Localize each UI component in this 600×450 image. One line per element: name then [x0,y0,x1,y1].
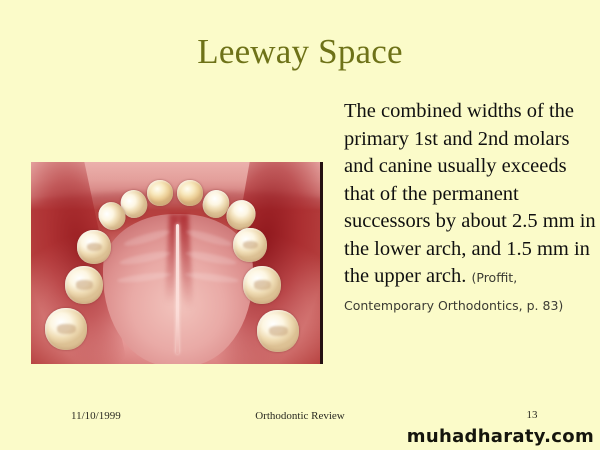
body-main-text: The combined widths of the primary 1st a… [344,100,596,287]
tooth-primary-central-incisor-right [177,180,203,206]
body-text-block: The combined widths of the primary 1st a… [344,98,596,318]
tooth-primary-second-molar-right [243,266,281,304]
body-paragraph: The combined widths of the primary 1st a… [344,98,596,318]
median-palatal-raphe [176,224,179,354]
presentation-slide: Leeway Space The combi [0,0,600,450]
tooth-permanent-first-molar-left [45,308,87,350]
tooth-permanent-first-molar-right [257,310,299,352]
maxillary-occlusal-photo [31,162,323,364]
tooth-primary-first-molar-left [77,230,111,264]
footer-page-number: 13 [520,409,544,421]
watermark: muhadharaty.com [407,426,594,447]
footer-presentation-title: Orthodontic Review [0,410,600,422]
tooth-primary-central-incisor-left [147,180,173,206]
tooth-primary-first-molar-right [233,228,267,262]
page-title: Leeway Space [0,32,600,72]
tooth-primary-second-molar-left [65,266,103,304]
